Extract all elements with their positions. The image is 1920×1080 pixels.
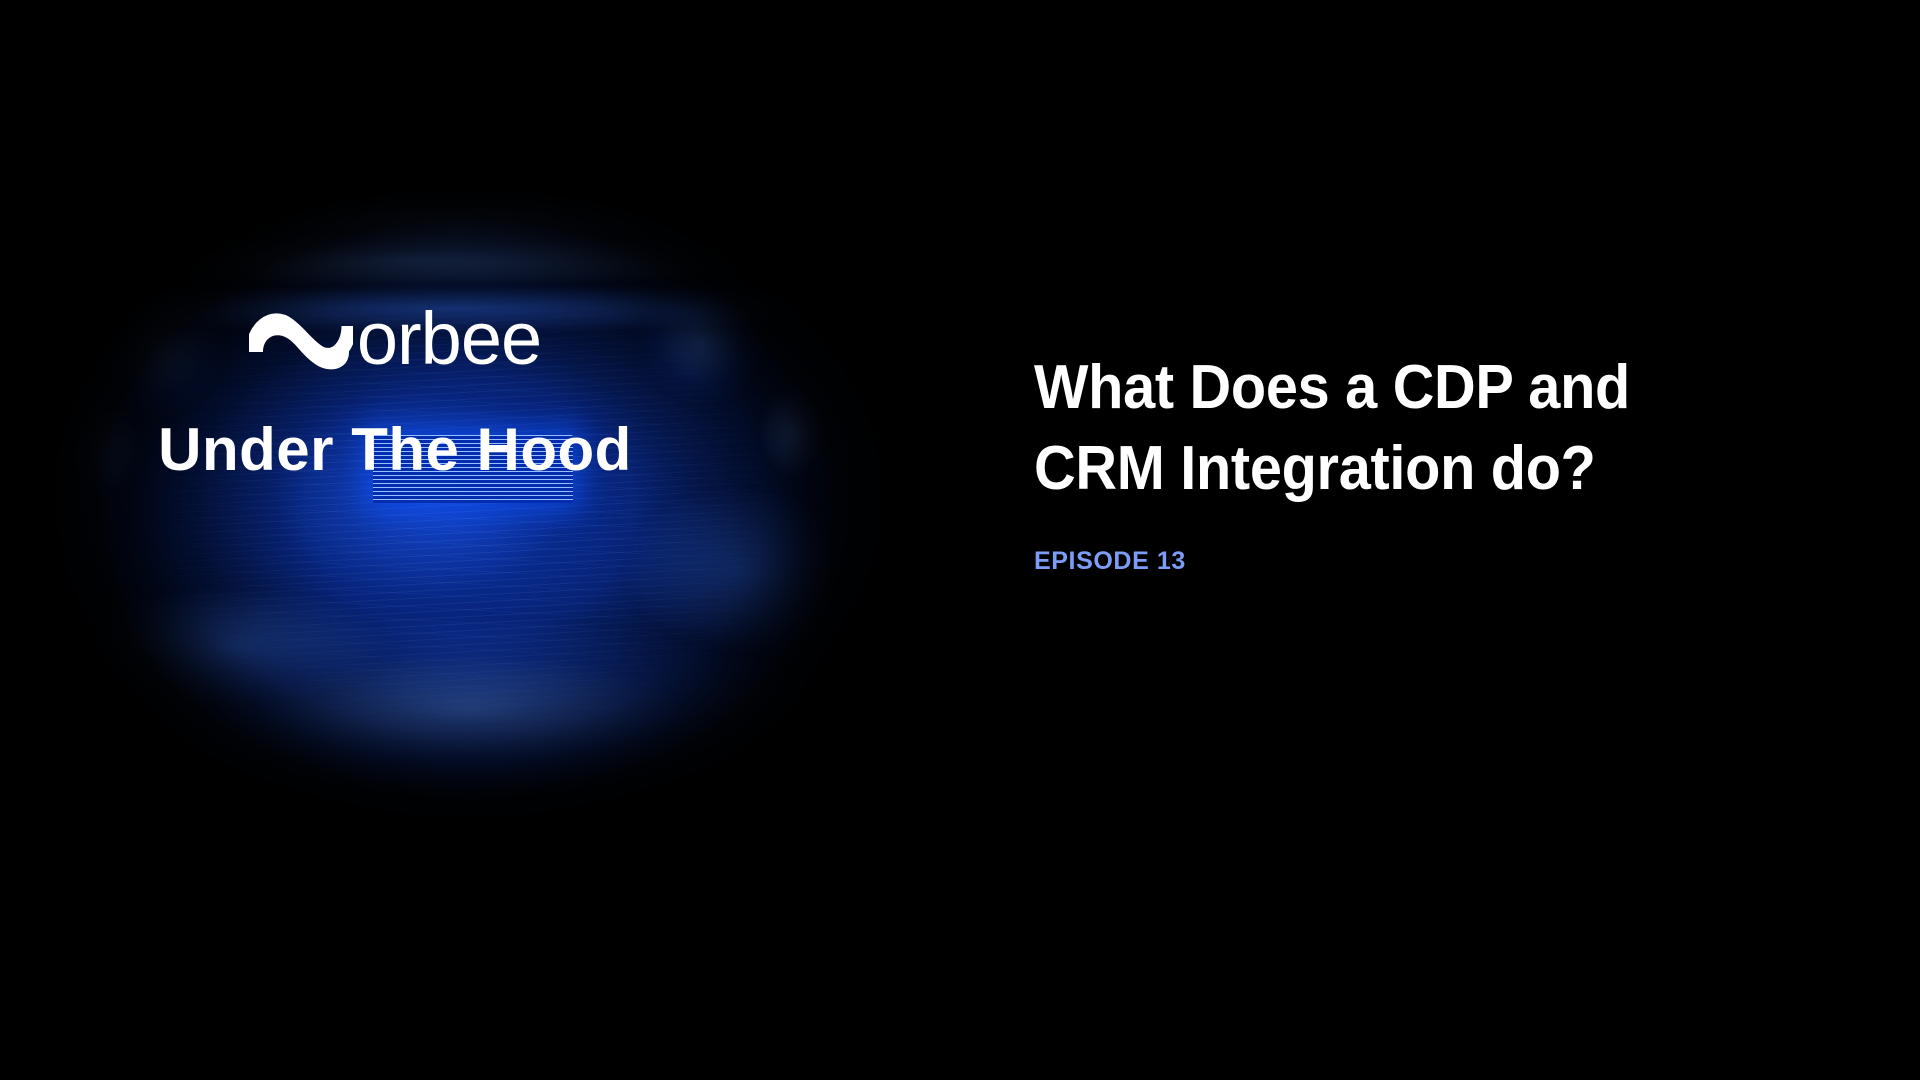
engine-bay-photo bbox=[0, 0, 980, 1080]
show-title: Under The Hood bbox=[0, 418, 790, 481]
orbee-wordmark: orbee bbox=[357, 302, 541, 376]
orbee-logo: orbee bbox=[0, 300, 790, 378]
brand-lockup: orbee Under The Hood bbox=[0, 300, 790, 481]
episode-info: What Does a CDP and CRM Integration do? … bbox=[1034, 348, 1794, 576]
episode-title: What Does a CDP and CRM Integration do? bbox=[1034, 348, 1741, 509]
episode-number-label: EPISODE 13 bbox=[1034, 547, 1794, 576]
orbee-wave-mark bbox=[249, 308, 353, 370]
episode-title-line-2: CRM Integration do? bbox=[1034, 434, 1596, 503]
engine-bay-artwork bbox=[18, 170, 918, 860]
episode-title-card: orbee Under The Hood What Does a CDP and… bbox=[0, 0, 1920, 1080]
episode-title-line-1: What Does a CDP and bbox=[1034, 353, 1630, 422]
